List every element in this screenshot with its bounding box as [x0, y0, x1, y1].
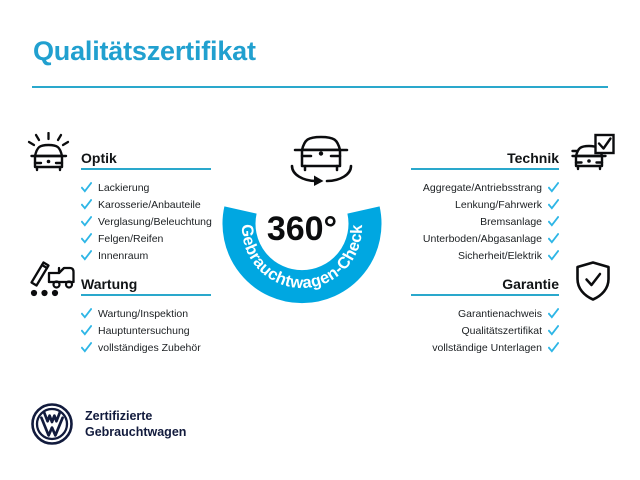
- footer-logo-block: Zertifizierte Gebrauchtwagen: [31, 403, 186, 445]
- section-technik-divider: [411, 168, 559, 170]
- check-icon: [548, 250, 559, 261]
- quality-certificate-page: Qualitätszertifikat Optik Lackierung Kar…: [0, 0, 640, 480]
- title-divider: [32, 86, 608, 88]
- section-wartung-title: Wartung: [81, 276, 137, 292]
- list-item: Karosserie/Anbauteile: [81, 196, 211, 213]
- badge-degrees: 360°: [267, 210, 337, 248]
- list-item: vollständiges Zubehör: [81, 339, 211, 356]
- section-optik-title: Optik: [81, 150, 117, 166]
- footer-logo-text: Zertifizierte Gebrauchtwagen: [85, 408, 186, 440]
- list-item-label: Qualitätszertifikat: [461, 325, 542, 337]
- check-icon: [81, 233, 92, 244]
- check-icon: [81, 342, 92, 353]
- section-optik-list: Lackierung Karosserie/Anbauteile Verglas…: [81, 179, 211, 264]
- list-item-label: Unterboden/Abgasanlage: [423, 233, 542, 245]
- list-item: Lackierung: [81, 179, 211, 196]
- page-title: Qualitätszertifikat: [33, 36, 256, 67]
- check-icon: [548, 308, 559, 319]
- section-optik-divider: [81, 168, 211, 170]
- footer-logo-line-1: Zertifizierte: [85, 408, 186, 424]
- list-item-label: vollständiges Zubehör: [98, 342, 201, 354]
- list-item: Felgen/Reifen: [81, 230, 211, 247]
- list-item: Garantienachweis: [411, 305, 559, 322]
- check-icon: [548, 342, 559, 353]
- list-item-label: vollständige Unterlagen: [432, 342, 542, 354]
- section-technik-header: Technik: [411, 144, 559, 170]
- list-item-label: Bremsanlage: [480, 216, 542, 228]
- section-garantie-divider: [411, 294, 559, 296]
- list-item-label: Innenraum: [98, 250, 148, 262]
- list-item: Lenkung/Fahrwerk: [411, 196, 559, 213]
- check-icon: [548, 325, 559, 336]
- list-item-label: Verglasung/Beleuchtung: [98, 216, 212, 228]
- section-optik-header: Optik: [81, 144, 211, 170]
- section-garantie-list: Garantienachweis Qualitätszertifikat vol…: [411, 305, 559, 356]
- list-item-label: Sicherheit/Elektrik: [458, 250, 542, 262]
- list-item-label: Aggregate/Antriebsstrang: [423, 182, 542, 194]
- check-icon: [548, 182, 559, 193]
- list-item: Innenraum: [81, 247, 211, 264]
- check-icon: [81, 308, 92, 319]
- list-item: Sicherheit/Elektrik: [411, 247, 559, 264]
- car-checkbox-icon: [568, 132, 616, 174]
- check-icon: [81, 199, 92, 210]
- section-garantie-title: Garantie: [502, 276, 559, 292]
- car-service-tool-icon: [26, 256, 76, 298]
- section-garantie: Garantie Garantienachweis Qualitätszerti…: [411, 270, 559, 356]
- section-wartung: Wartung Wartung/Inspektion Hauptuntersuc…: [81, 270, 211, 356]
- check-icon: [81, 182, 92, 193]
- list-item-label: Lackierung: [98, 182, 149, 194]
- list-item-label: Garantienachweis: [458, 308, 542, 320]
- volkswagen-logo: [31, 403, 73, 445]
- car-shine-icon: [26, 132, 72, 174]
- list-item: Bremsanlage: [411, 213, 559, 230]
- list-item: Verglasung/Beleuchtung: [81, 213, 211, 230]
- list-item: Qualitätszertifikat: [411, 322, 559, 339]
- footer-logo-line-2: Gebrauchtwagen: [85, 424, 186, 440]
- list-item-label: Hauptuntersuchung: [98, 325, 190, 337]
- section-optik: Optik Lackierung Karosserie/Anbauteile: [81, 144, 211, 264]
- section-technik-list: Aggregate/Antriebsstrang Lenkung/Fahrwer…: [411, 179, 559, 264]
- list-item: Hauptuntersuchung: [81, 322, 211, 339]
- check-icon: [548, 233, 559, 244]
- section-wartung-divider: [81, 294, 211, 296]
- list-item: vollständige Unterlagen: [411, 339, 559, 356]
- check-icon: [81, 216, 92, 227]
- list-item-label: Wartung/Inspektion: [98, 308, 188, 320]
- check-icon: [81, 325, 92, 336]
- section-technik: Technik Aggregate/Antriebsstrang Lenkung…: [411, 144, 559, 264]
- section-technik-title: Technik: [507, 150, 559, 166]
- list-item: Wartung/Inspektion: [81, 305, 211, 322]
- list-item-label: Felgen/Reifen: [98, 233, 163, 245]
- car-front-rotation-icon: [283, 126, 359, 188]
- section-garantie-header: Garantie: [411, 270, 559, 296]
- list-item: Unterboden/Abgasanlage: [411, 230, 559, 247]
- check-icon: [548, 199, 559, 210]
- check-icon: [81, 250, 92, 261]
- list-item-label: Karosserie/Anbauteile: [98, 199, 201, 211]
- check-icon: [548, 216, 559, 227]
- list-item-label: Lenkung/Fahrwerk: [455, 199, 542, 211]
- shield-check-icon: [573, 260, 613, 302]
- section-wartung-header: Wartung: [81, 270, 211, 296]
- section-wartung-list: Wartung/Inspektion Hauptuntersuchung vol…: [81, 305, 211, 356]
- list-item: Aggregate/Antriebsstrang: [411, 179, 559, 196]
